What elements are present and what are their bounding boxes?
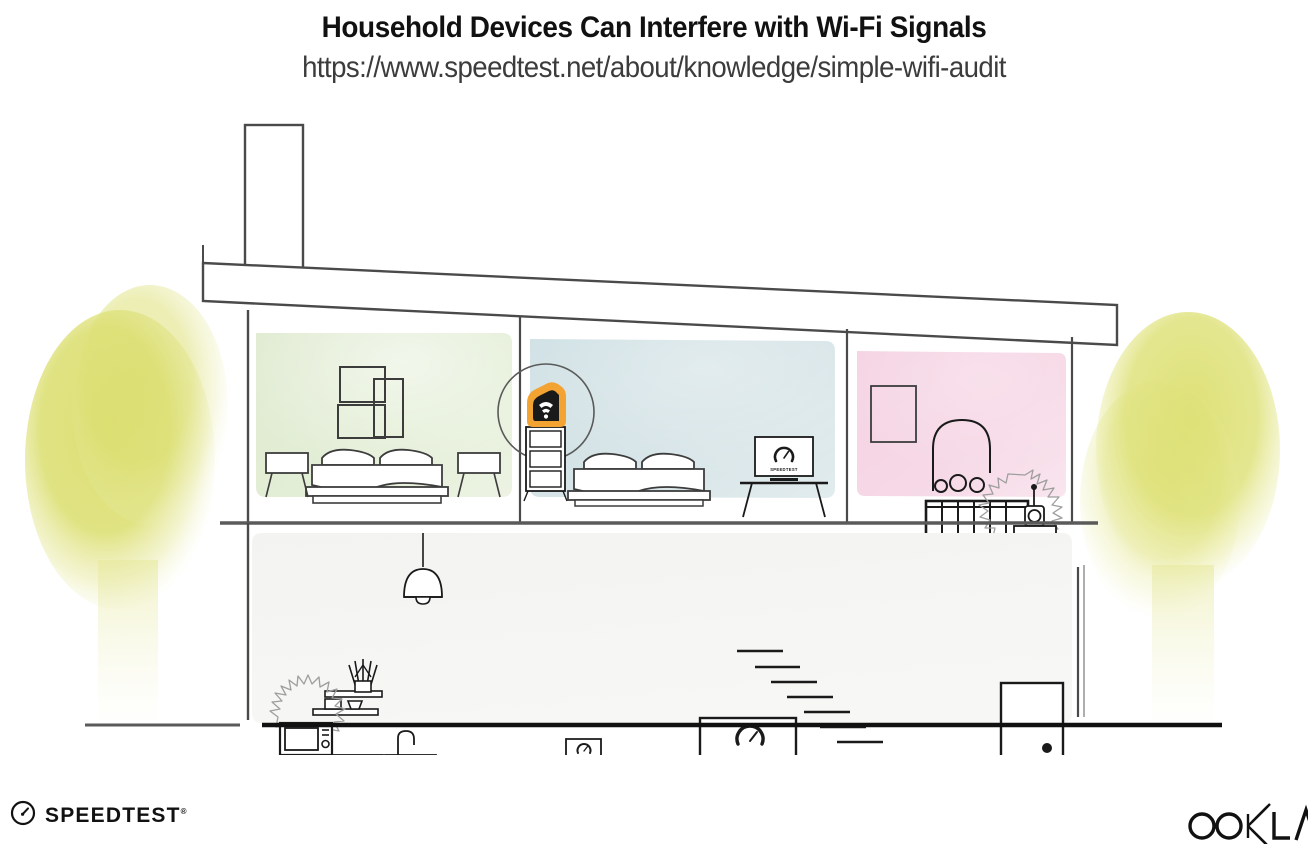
footer: SPEEDTEST®: [0, 780, 1308, 861]
door-knob-icon: [1042, 743, 1052, 753]
header: Household Devices Can Interfere with Wi-…: [0, 0, 1308, 85]
monitor-icon: SPEEDTEST: [755, 437, 813, 481]
speedtest-gauge-icon: [10, 800, 36, 831]
door-icon[interactable]: [1001, 683, 1063, 755]
sink-faucet-icon: [398, 731, 414, 755]
speedtest-logo: SPEEDTEST®: [10, 800, 187, 831]
house-illustration: SPEEDTEST: [0, 105, 1308, 755]
ookla-logo: [1182, 800, 1308, 844]
source-url: https://www.speedtest.net/about/knowledg…: [52, 45, 1255, 85]
tree-left-icon: [25, 285, 228, 720]
monitor-screen-label: SPEEDTEST: [770, 467, 798, 472]
ookla-logo-icon: [1182, 800, 1308, 844]
page-title: Household Devices Can Interfere with Wi-…: [46, 0, 1262, 45]
chimney-icon: [245, 125, 303, 275]
shelf-unit-icon: [524, 427, 567, 501]
speedtest-wordmark: SPEEDTEST®: [45, 804, 187, 828]
infographic-canvas: Household Devices Can Interfere with Wi-…: [0, 0, 1308, 861]
laptop-icon: [557, 739, 610, 755]
room-lower-floor: SPEEDTEST: [248, 523, 1084, 755]
room-bedroom-left: [256, 333, 512, 503]
room-bedroom-middle: SPEEDTEST: [498, 339, 835, 517]
microwave-icon: [280, 723, 332, 755]
tree-right-icon: [1080, 312, 1280, 720]
roof: [203, 245, 1117, 345]
